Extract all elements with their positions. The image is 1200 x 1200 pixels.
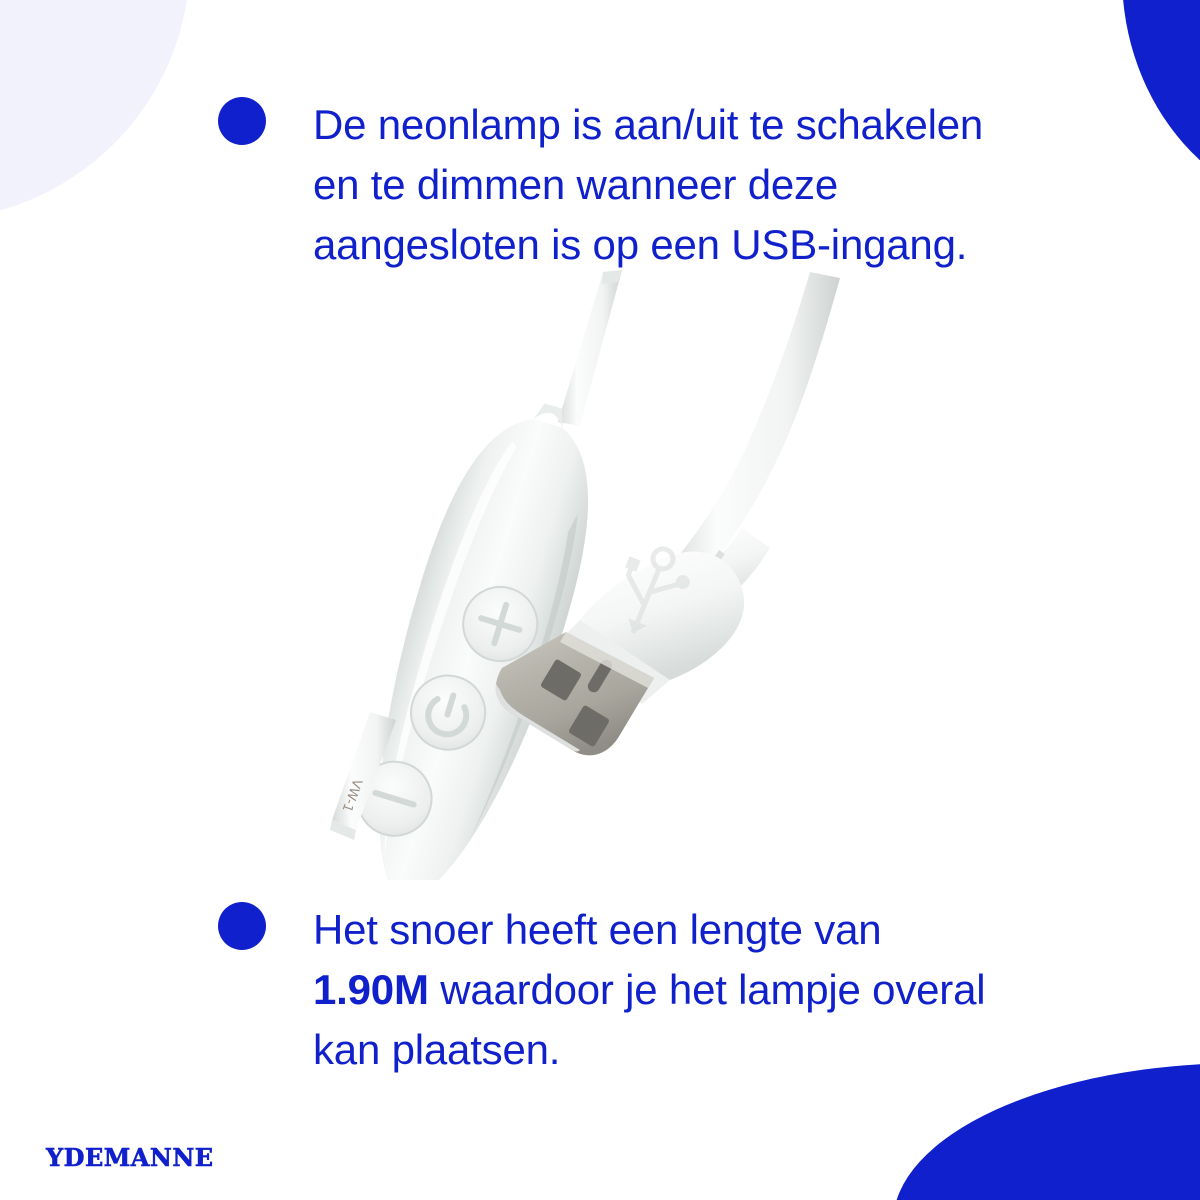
decorative-blue-ellipse-bottom-right <box>893 1063 1200 1200</box>
bullet-text-2-pre: Het snoer heeft een lengte van <box>313 906 881 953</box>
bullet-text-2: Het snoer heeft een lengte van 1.90M waa… <box>313 900 985 1080</box>
cable-to-lamp <box>558 270 622 426</box>
decorative-lavender-circle <box>0 0 190 220</box>
bullet-dot-icon <box>218 902 266 950</box>
bullet-dot-icon <box>218 97 266 145</box>
bullet-text-1: De neonlamp is aan/uit te schakelen en t… <box>313 95 983 275</box>
cable-length-value: 1.90M <box>313 966 429 1013</box>
bullet-item-1: De neonlamp is aan/uit te schakelen en t… <box>218 95 1008 275</box>
decorative-blue-circle-top-right <box>1122 0 1200 213</box>
poster-canvas: VW-1 <box>0 0 1200 1200</box>
product-photo: VW-1 <box>250 260 890 880</box>
brand-logo: YDEMANNE <box>46 1143 214 1172</box>
bullet-item-2: Het snoer heeft een lengte van 1.90M waa… <box>218 900 1008 1080</box>
